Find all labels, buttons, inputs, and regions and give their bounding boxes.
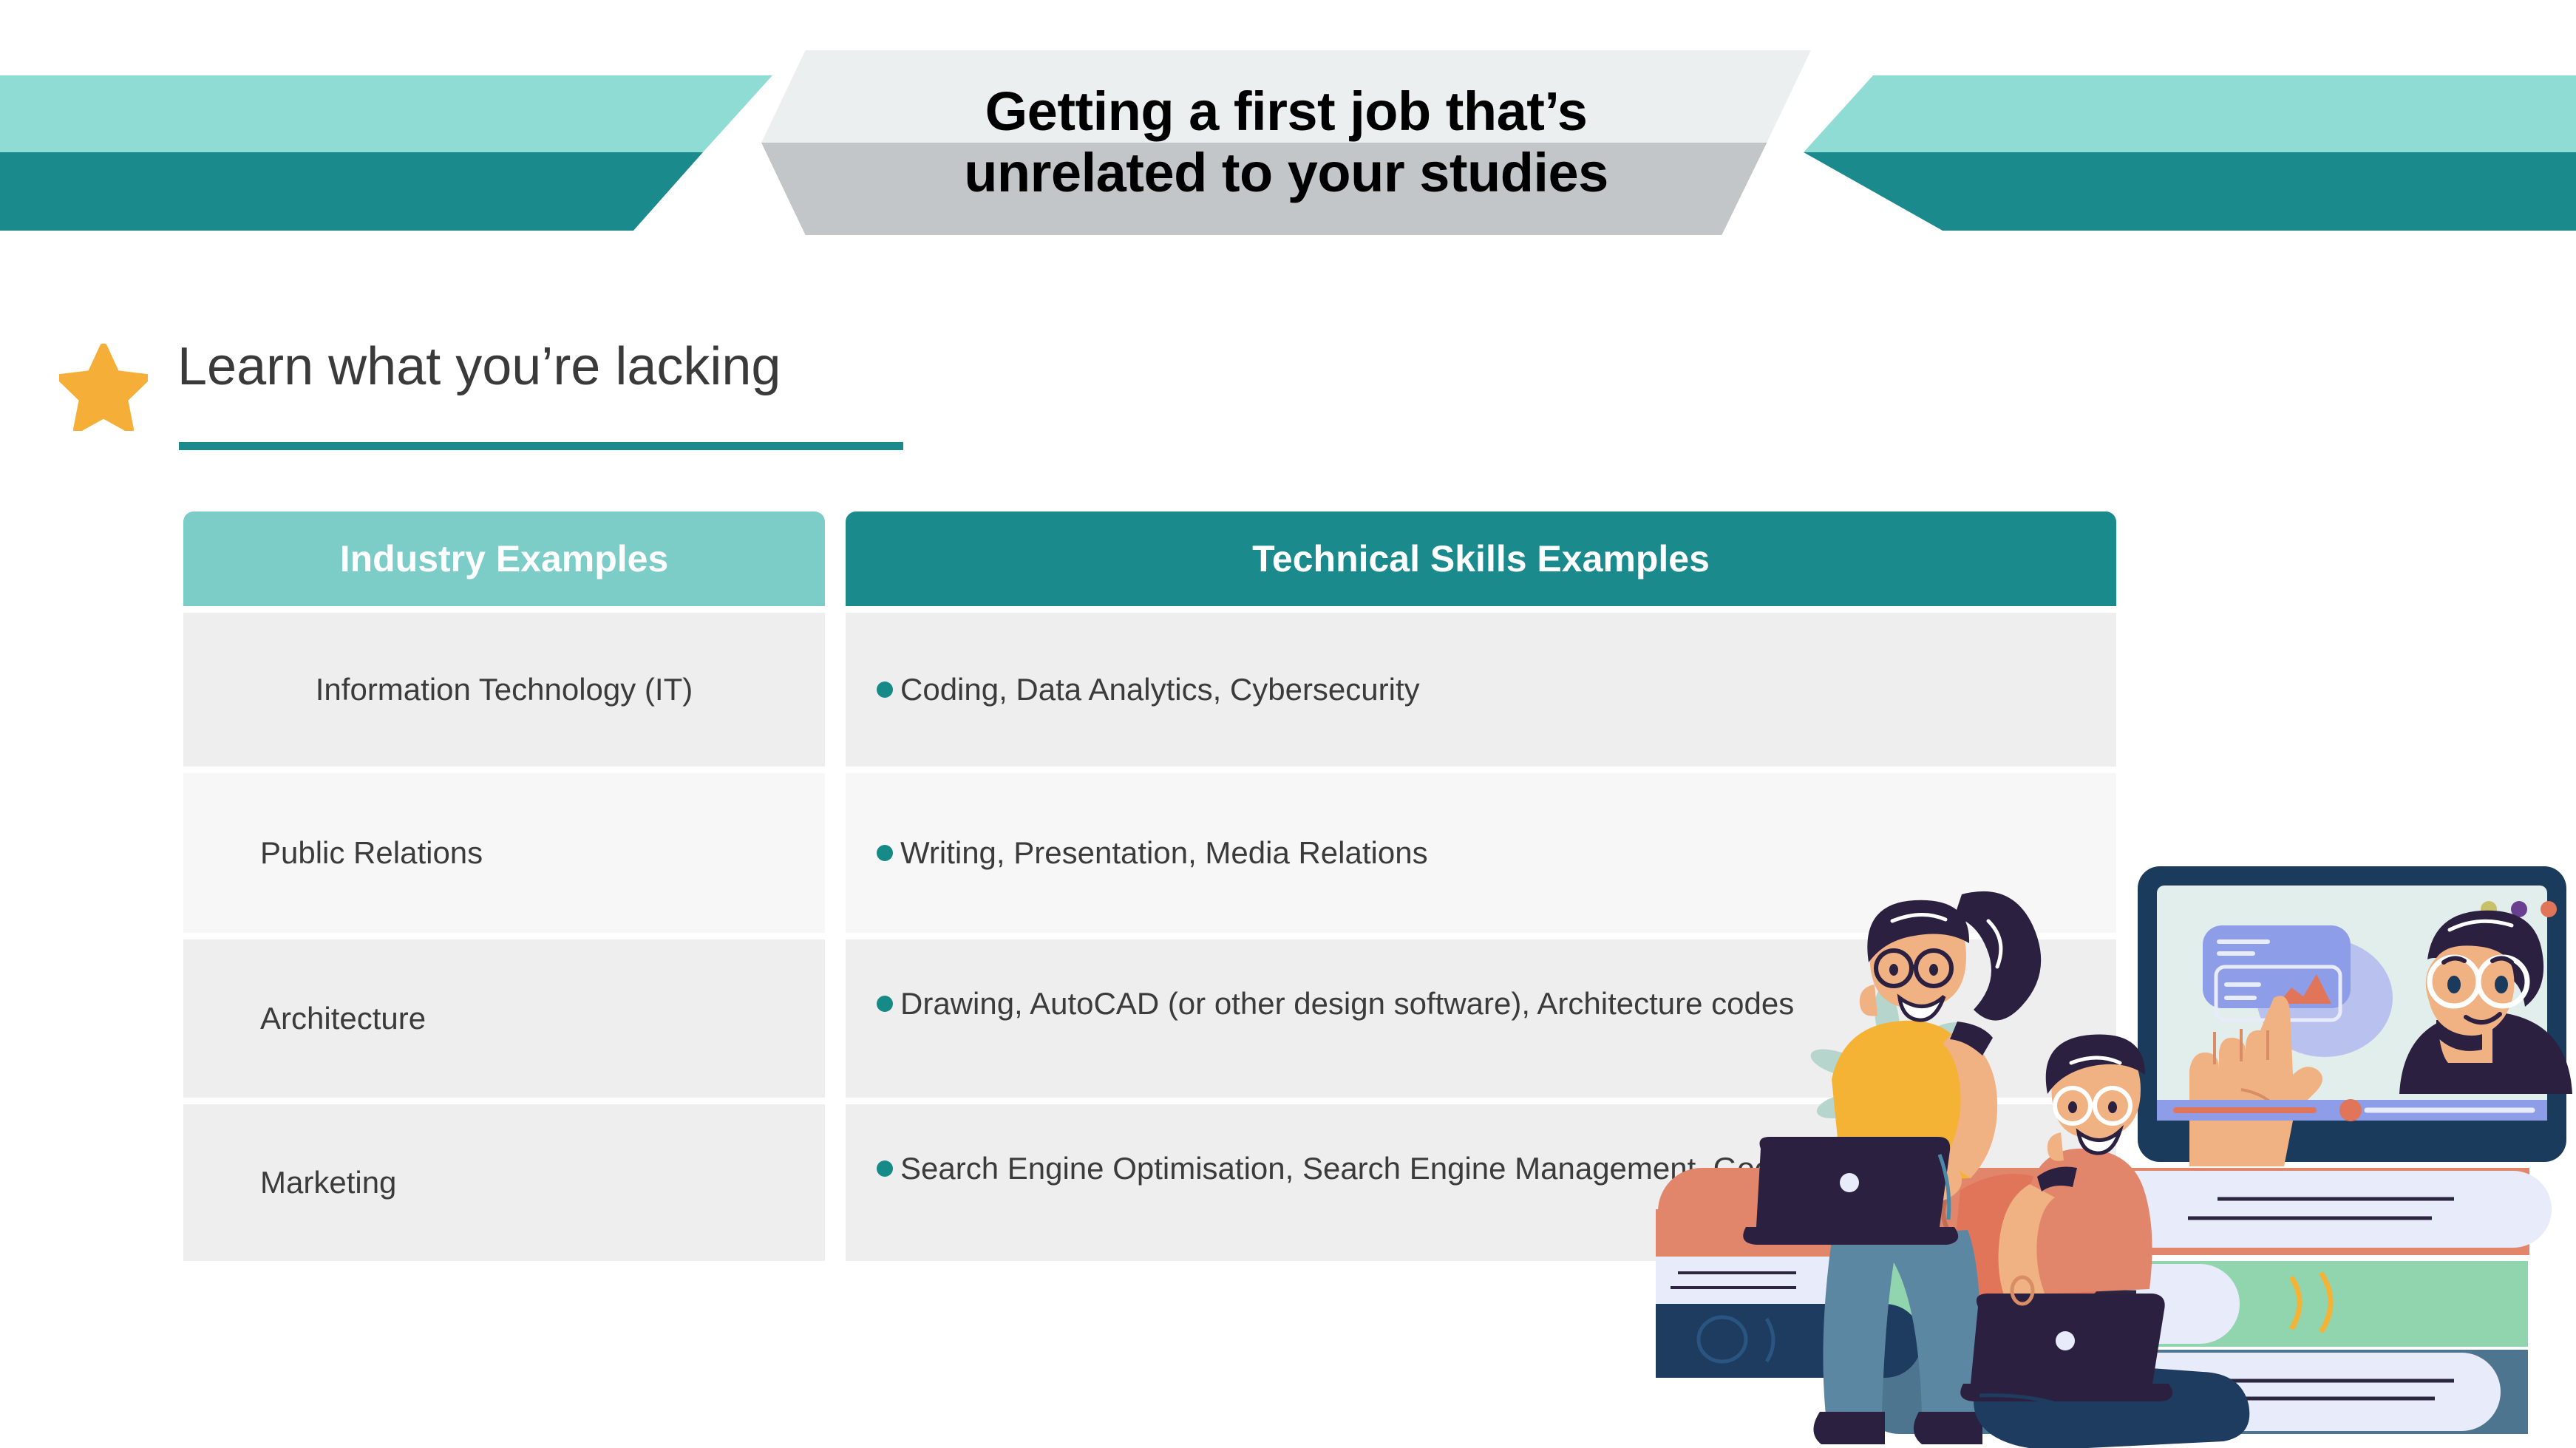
bullet-icon: [877, 996, 893, 1012]
bullet-icon: [877, 845, 893, 861]
bullet-icon: [877, 1160, 893, 1177]
cell-industry: Marketing: [183, 1104, 825, 1261]
column-header-industry: Industry Examples: [183, 511, 825, 606]
star-icon: [59, 344, 148, 431]
slide-title-line-1: Getting a first job that’s: [985, 81, 1588, 143]
slide-title: Getting a first job that’s unrelated to …: [761, 50, 1811, 235]
page-title: Learn what you’re lacking: [177, 336, 781, 397]
ribbon-band-right-dark: [1804, 152, 2576, 231]
heading-underline: [179, 442, 903, 450]
ribbon-band-left-light: [0, 75, 772, 152]
ribbon-band-left-dark: [0, 152, 772, 231]
cell-skills-text: Coding, Data Analytics, Cybersecurity: [900, 670, 1420, 709]
table-row: Information Technology (IT) Coding, Data…: [183, 613, 2116, 767]
column-header-technical-skills: Technical Skills Examples: [846, 511, 2116, 606]
table-header-row: Industry Examples Technical Skills Examp…: [183, 511, 2116, 606]
illustration-students-studying: [1656, 850, 2576, 1448]
cell-skills-text: Writing, Presentation, Media Relations: [900, 833, 1428, 872]
cell-industry: Information Technology (IT): [183, 613, 825, 767]
cell-industry: Architecture: [183, 939, 825, 1098]
playhead-handle: [2339, 1099, 2362, 1121]
cell-industry: Public Relations: [183, 773, 825, 933]
laptop-logo: [2056, 1331, 2075, 1350]
laptop-logo: [1840, 1173, 1859, 1192]
ribbon-band-right-light: [1804, 75, 2576, 152]
bullet-icon: [877, 681, 893, 698]
title-plaque: Getting a first job that’s unrelated to …: [761, 50, 1811, 235]
slide-title-line-2: unrelated to your studies: [964, 143, 1608, 204]
status-dot-orange: [2541, 901, 2557, 917]
cell-skills: Coding, Data Analytics, Cybersecurity: [846, 613, 2116, 767]
title-ribbon: Getting a first job that’s unrelated to …: [0, 0, 2576, 244]
video-call-tablet: [2138, 866, 2572, 1166]
